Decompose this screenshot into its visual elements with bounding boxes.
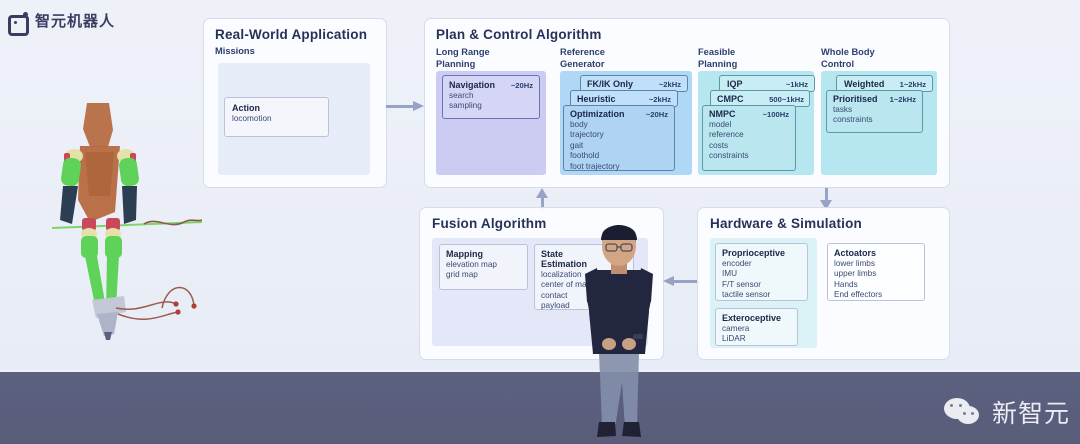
- card-cmpc-hz: 500~1kHz: [769, 95, 804, 104]
- panel-title-plan-control: Plan & Control Algorithm: [436, 27, 602, 42]
- brand-logo: 智元机器人: [8, 10, 115, 31]
- panel-title-real-world: Real-World Application: [215, 27, 367, 42]
- card-mapping[interactable]: Mapping elevation map grid map: [439, 244, 528, 290]
- column-label-feasible-planning: Feasible Planning: [698, 47, 737, 70]
- card-action[interactable]: Action locomotion: [224, 97, 329, 137]
- card-exteroceptive-items: camera LiDAR: [716, 323, 797, 346]
- watermark: 新智元: [944, 394, 1070, 430]
- card-prioritised[interactable]: Prioritised 1~2kHz tasks constraints: [826, 90, 923, 133]
- card-optimization-title: Optimization: [570, 109, 625, 119]
- card-actuators[interactable]: Actoators lower limbs upper limbs Hands …: [827, 243, 925, 301]
- card-optimization[interactable]: Optimization ~20Hz body trajectory gait …: [563, 105, 675, 171]
- card-optimization-hz: ~20Hz: [646, 110, 668, 119]
- card-proprioceptive-title: Proprioceptive: [722, 248, 785, 258]
- card-prioritised-title: Prioritised: [833, 94, 878, 104]
- card-prioritised-hz: 1~2kHz: [890, 95, 916, 104]
- card-weighted-hz: 1~2kHz: [900, 80, 926, 89]
- card-mapping-title: Mapping: [446, 249, 483, 259]
- column-label-long-range-planning: Long Range Planning: [436, 47, 490, 70]
- card-heuristic-title: Heuristic: [577, 94, 616, 104]
- card-nmpc-hz: ~100Hz: [763, 110, 789, 119]
- column-label-whole-body-control: Whole Body Control: [821, 47, 875, 70]
- card-action-items: locomotion: [225, 113, 328, 125]
- card-iqp-hz: ~1kHz: [786, 80, 808, 89]
- card-weighted-title: Weighted: [844, 79, 884, 89]
- card-navigation-title: Navigation: [449, 80, 495, 90]
- stage-floor: [0, 372, 1080, 444]
- panel-title-fusion: Fusion Algorithm: [432, 216, 546, 231]
- card-prioritised-items: tasks constraints: [827, 104, 922, 127]
- card-navigation-items: search sampling: [443, 90, 539, 113]
- arrow-hardware-to-fusion: [663, 276, 699, 286]
- card-fkik-only-title: FK/IK Only: [587, 79, 633, 89]
- panel-title-hardware: Hardware & Simulation: [710, 216, 862, 231]
- card-action-title: Action: [232, 103, 260, 113]
- panel-hardware-simulation: Hardware & Simulation Proprioceptive enc…: [697, 207, 950, 360]
- presentation-stage: 智元机器人: [0, 0, 1080, 444]
- panel-plan-control-algorithm: Plan & Control Algorithm Long Range Plan…: [424, 18, 950, 188]
- label-missions: Missions: [215, 46, 255, 58]
- card-mapping-items: elevation map grid map: [440, 259, 527, 282]
- card-nmpc-title: NMPC: [709, 109, 736, 119]
- card-exteroceptive[interactable]: Exteroceptive camera LiDAR: [715, 308, 798, 346]
- card-actuators-title: Actoators: [834, 248, 876, 258]
- stage-floor-edge: [0, 370, 1080, 372]
- card-proprioceptive-items: encoder IMU F/T sensor tactile sensor: [716, 258, 807, 302]
- card-actuators-items: lower limbs upper limbs Hands End effect…: [828, 258, 924, 302]
- card-cmpc-title: CMPC: [717, 94, 744, 104]
- card-heuristic-hz: ~2kHz: [649, 95, 671, 104]
- card-exteroceptive-title: Exteroceptive: [722, 313, 781, 323]
- panel-real-world-application: Real-World Application Missions Action l…: [203, 18, 387, 188]
- card-nmpc[interactable]: NMPC ~100Hz model reference costs constr…: [702, 105, 796, 171]
- robot-skeleton-illustration: [52, 100, 202, 340]
- arrow-realworld-to-plan: [386, 101, 424, 111]
- card-optimization-items: body trajectory gait foothold foot traje…: [564, 119, 674, 173]
- watermark-label: 新智元: [992, 394, 1070, 430]
- card-fkik-only-hz: ~2kHz: [659, 80, 681, 89]
- brand-logo-label: 智元机器人: [35, 10, 115, 31]
- card-navigation-hz: ~20Hz: [511, 81, 533, 90]
- card-iqp-title: IQP: [727, 79, 743, 89]
- card-nmpc-items: model reference costs constraints: [703, 119, 795, 163]
- card-navigation[interactable]: Navigation ~20Hz search sampling: [442, 75, 540, 119]
- speaker-person: [575, 222, 663, 444]
- column-label-reference-generator: Reference Generator: [560, 47, 605, 70]
- zhiyuan-robotics-logo-icon: [8, 12, 28, 30]
- wechat-icon: [944, 398, 984, 426]
- card-proprioceptive[interactable]: Proprioceptive encoder IMU F/T sensor ta…: [715, 243, 808, 301]
